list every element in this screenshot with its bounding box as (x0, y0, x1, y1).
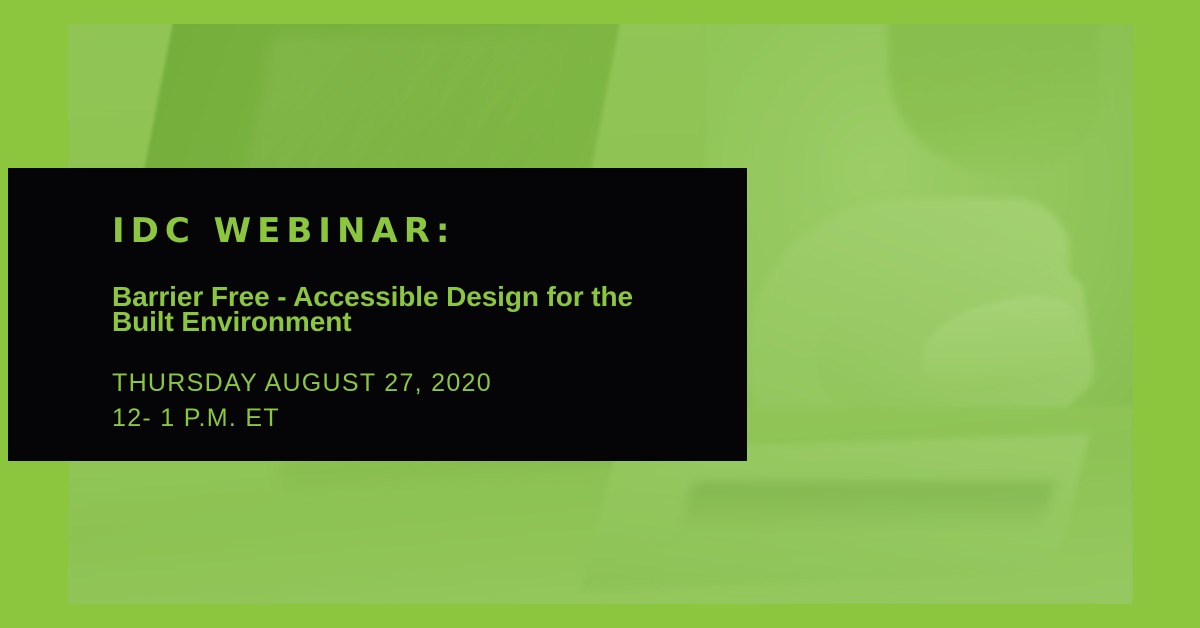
webinar-kicker: IDC WEBINAR: (112, 214, 707, 248)
webinar-title: Barrier Free - Accessible Design for the… (112, 284, 692, 334)
webinar-time: 12- 1 P.M. ET (112, 401, 707, 436)
promo-graphic: IDC WEBINAR: Barrier Free - Accessible D… (0, 0, 1200, 628)
webinar-schedule: THURSDAY AUGUST 27, 2020 12- 1 P.M. ET (112, 366, 707, 436)
webinar-date: THURSDAY AUGUST 27, 2020 (112, 366, 707, 401)
content-panel: IDC WEBINAR: Barrier Free - Accessible D… (8, 168, 747, 461)
